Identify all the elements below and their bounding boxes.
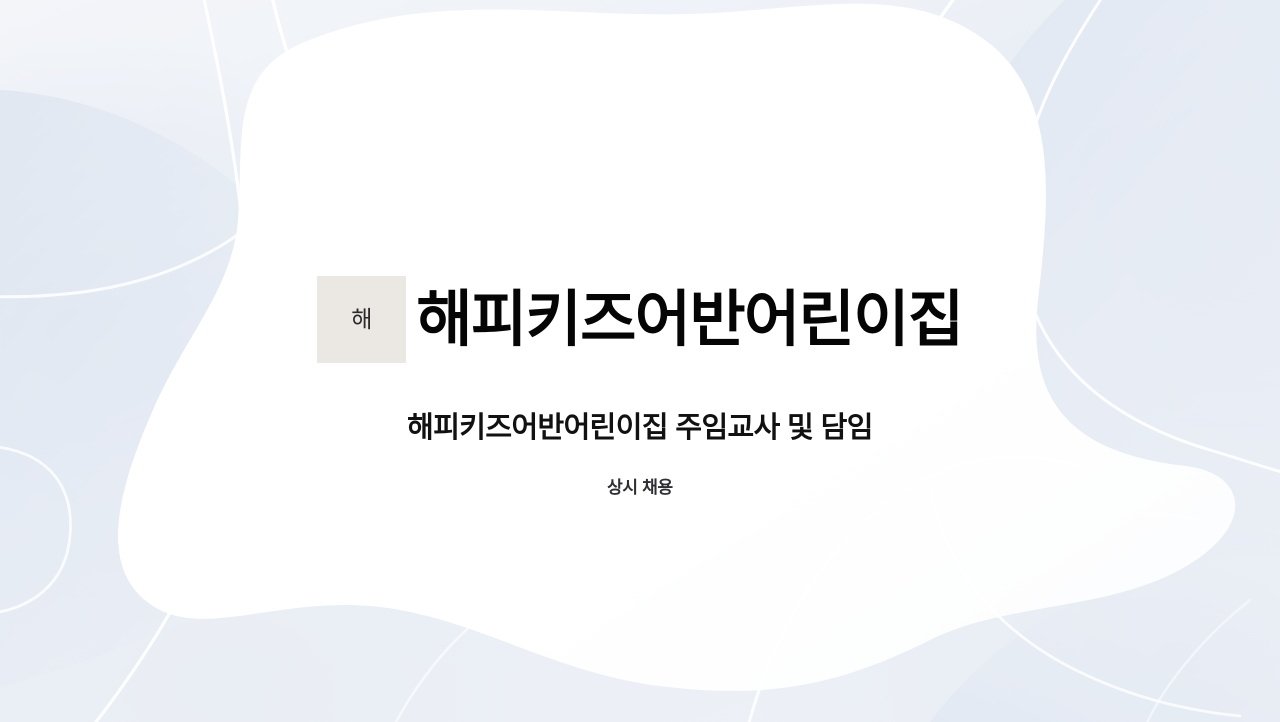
poster-content: 해 해피키즈어반어린이집 해피키즈어반어린이집 주임교사 및 담임 상시 채용 [0, 0, 1280, 722]
job-position-title: 해피키즈어반어린이집 주임교사 및 담임 [0, 410, 1280, 446]
company-name-title: 해피키즈어반어린이집 [416, 287, 962, 353]
headline-row: 해 해피키즈어반어린이집 [0, 246, 1280, 394]
job-posting-card: 해 해피키즈어반어린이집 해피키즈어반어린이집 주임교사 및 담임 상시 채용 [0, 0, 1280, 722]
company-logo-badge: 해 [317, 276, 406, 363]
hiring-type-label: 상시 채용 [0, 477, 1280, 499]
